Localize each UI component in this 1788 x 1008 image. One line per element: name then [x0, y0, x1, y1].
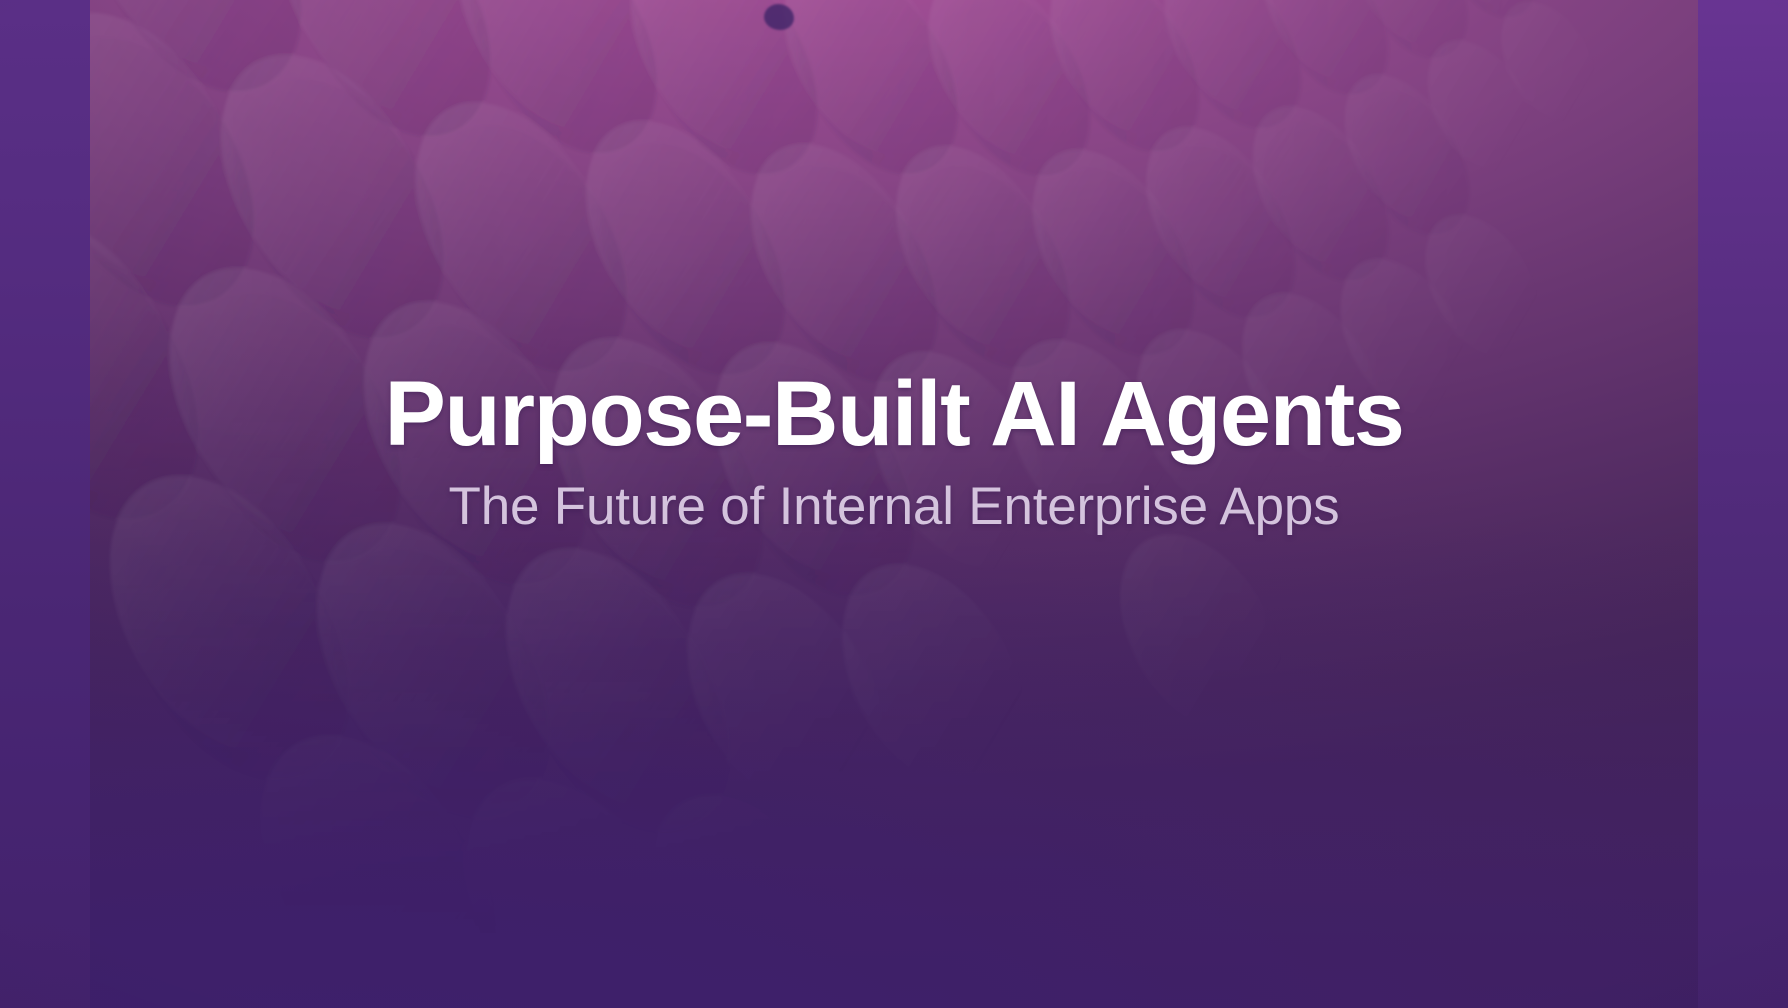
title-slide: Purpose-Built AI Agents The Future of In… — [0, 0, 1788, 1008]
slide-subtitle: The Future of Internal Enterprise Apps — [449, 480, 1340, 533]
slide-title: Purpose-Built AI Agents — [384, 368, 1403, 460]
slide-content: Purpose-Built AI Agents The Future of In… — [0, 0, 1788, 1008]
